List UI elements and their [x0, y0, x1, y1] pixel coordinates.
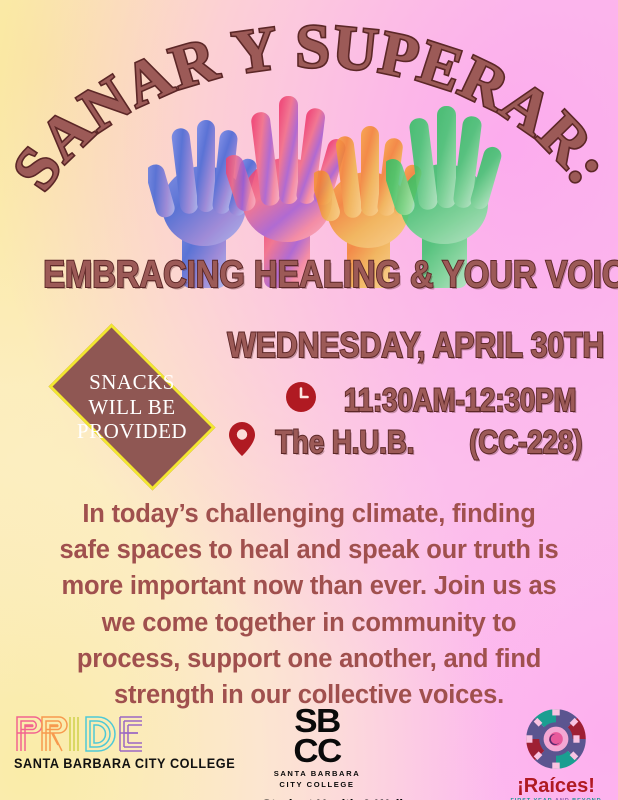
- pride-wordmark: [14, 714, 164, 754]
- raices-bang-close: !: [588, 775, 595, 797]
- event-time-row: 11:30AM-12:30PM: [285, 381, 595, 418]
- snacks-line-3: PROVIDED: [77, 419, 187, 444]
- sbcc-sub-line1: SANTA BARBARA: [262, 769, 372, 778]
- clock-icon: [285, 381, 317, 418]
- poster-title-arc: SANAR Y SUPERAR:: [0, 14, 618, 234]
- event-date: WEDNESDAY, APRIL 30TH: [227, 328, 588, 363]
- page-title: SANAR Y SUPERAR:: [0, 14, 618, 202]
- snacks-badge-text: SNACKS WILL BE PROVIDED: [28, 344, 236, 470]
- event-location-row: The H.U.B. (CC-228): [228, 421, 591, 462]
- event-time: 11:30AM-12:30PM: [344, 384, 576, 416]
- snacks-line-1: SNACKS: [89, 370, 175, 395]
- pride-logo: SANTA BARBARA CITY COLLEGE: [14, 714, 174, 771]
- event-room: (CC-228): [469, 426, 582, 458]
- sbcc-tagline: Student Health & Wellness: [262, 796, 372, 800]
- poster-subtitle: EMBRACING HEALING & YOUR VOICE: [43, 256, 574, 294]
- poster-canvas: SANAR Y SUPERAR: EMBRACING HEALING & YOU…: [0, 0, 618, 800]
- raices-word-text: Raíces: [524, 775, 589, 797]
- snacks-line-2: WILL BE: [88, 395, 175, 420]
- sbcc-mark-line2: CC: [259, 736, 376, 766]
- event-location: The H.U.B.: [275, 426, 414, 458]
- sbcc-sub-line2: CITY COLLEGE: [262, 780, 372, 789]
- pride-logo-subtitle: SANTA BARBARA CITY COLLEGE: [14, 756, 164, 771]
- raices-emblem-icon: [525, 708, 587, 770]
- snacks-badge: SNACKS WILL BE PROVIDED: [28, 344, 236, 470]
- sbcc-logo: SB CC SANTA BARBARA CITY COLLEGE Student…: [262, 706, 372, 800]
- raices-logo: ¡Raíces! FIRST YEAR AND BEYOND: [508, 708, 604, 800]
- poster-body-text: In today’s challenging climate, finding …: [54, 496, 564, 713]
- logo-row: SANTA BARBARA CITY COLLEGE SB CC SANTA B…: [0, 706, 618, 800]
- raices-bang-open: ¡: [517, 775, 524, 797]
- raices-wordmark: ¡Raíces!: [508, 776, 604, 796]
